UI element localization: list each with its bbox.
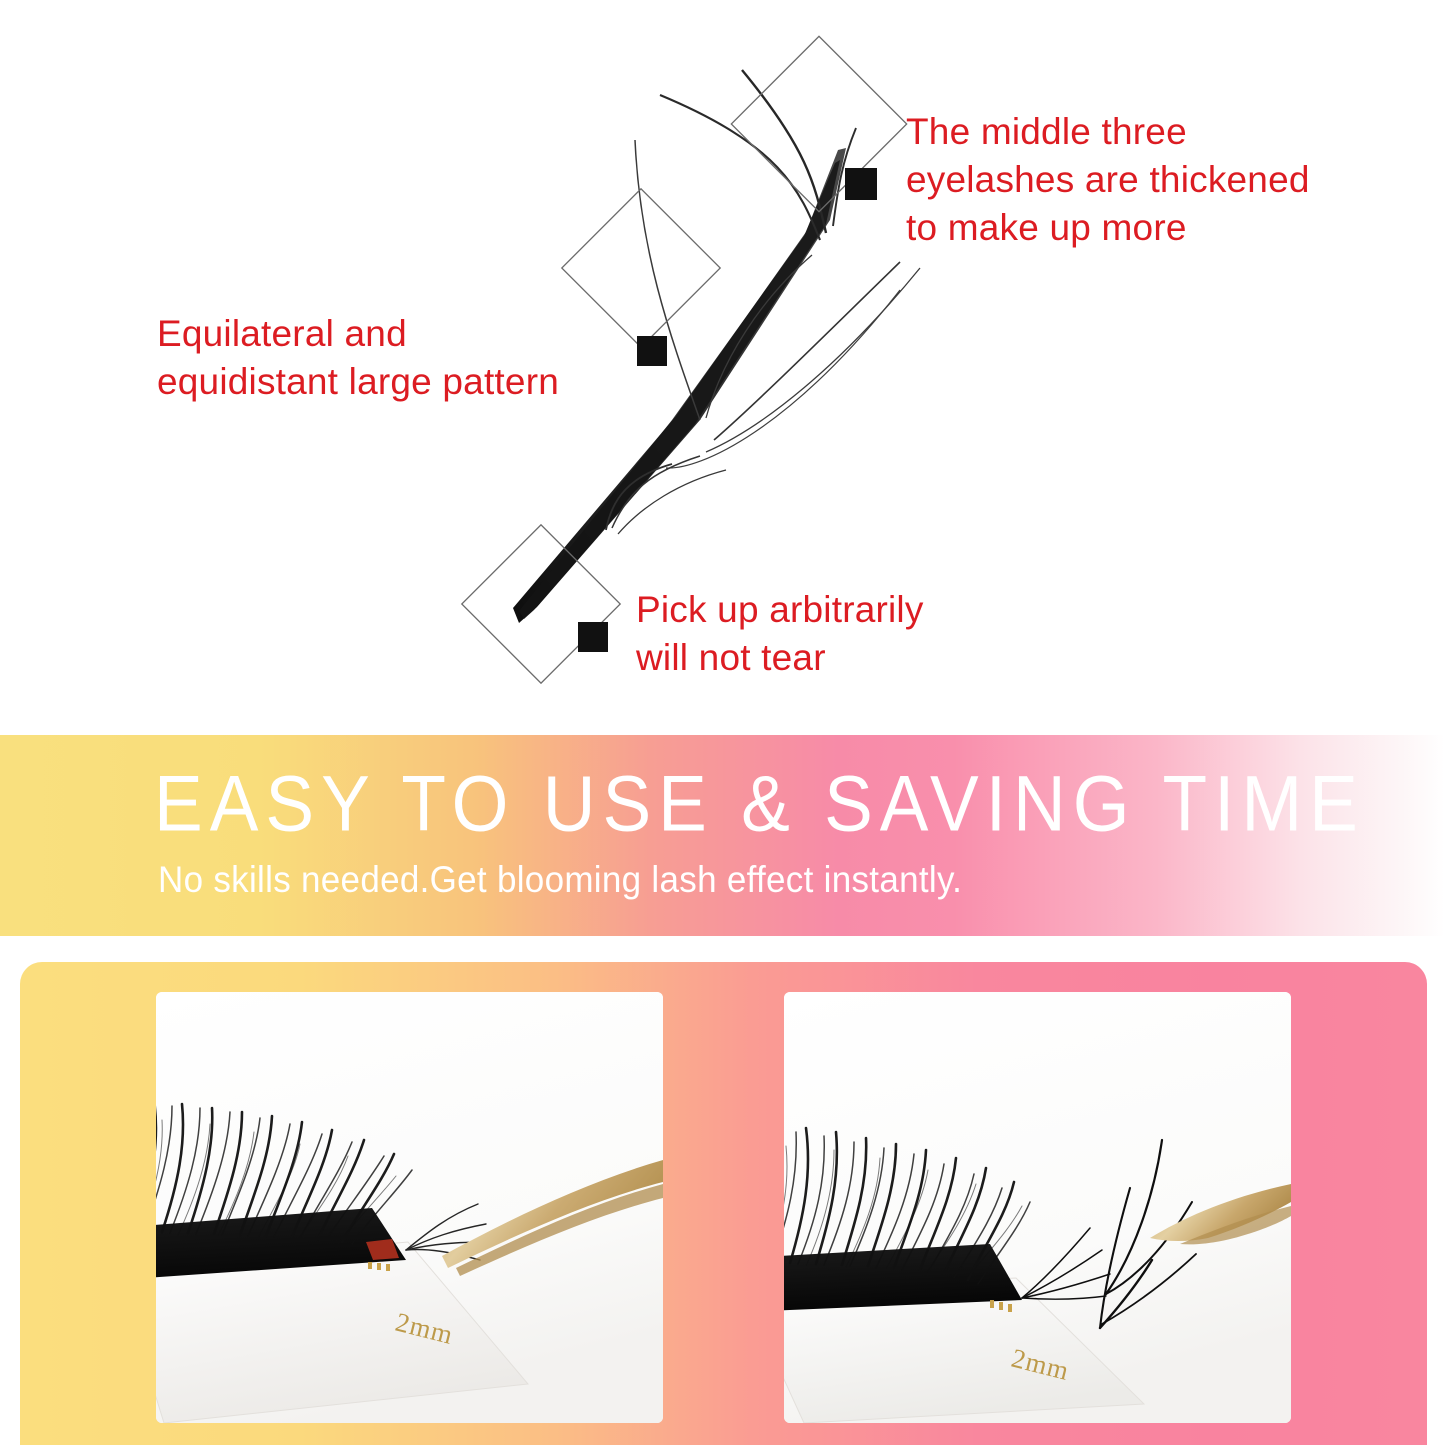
diamond-outline-bottom: [462, 525, 620, 683]
lash-strand-mid-1: [660, 95, 820, 240]
lash-strand-mid-2: [742, 70, 826, 233]
marker-square-top: [845, 168, 877, 200]
diamond-outline-top: [731, 36, 906, 211]
callout-text-pick-up: Pick up arbitrarily will not tear: [636, 586, 1036, 682]
photo-card-left[interactable]: 2mm: [156, 992, 663, 1423]
lash-strand-right-3: [666, 290, 900, 468]
callout-text-middle-three: The middle three eyelashes are thickened…: [906, 108, 1346, 252]
lash-strand-outer-left: [635, 140, 700, 420]
marker-square-left: [637, 336, 667, 366]
banner-headline: EASY TO USE & SAVING TIME: [154, 759, 1365, 849]
photo-gradient-panel: 2mm: [20, 962, 1427, 1445]
banner-subheadline: No skills needed.Get blooming lash effec…: [158, 859, 962, 901]
easy-to-use-banner: EASY TO USE & SAVING TIME No skills need…: [0, 735, 1445, 936]
photo-card-right[interactable]: 2mm: [784, 992, 1291, 1423]
callout-text-equilateral: Equilateral and equidistant large patter…: [157, 310, 627, 406]
photo-lash-tray-with-tweezers: 2mm: [156, 992, 663, 1423]
photo-lash-fan-pickup: 2mm: [784, 992, 1291, 1423]
marker-square-bottom: [578, 622, 608, 652]
product-photos-section: 2mm: [0, 936, 1445, 1445]
feature-diagram-section: The middle three eyelashes are thickened…: [0, 0, 1445, 735]
